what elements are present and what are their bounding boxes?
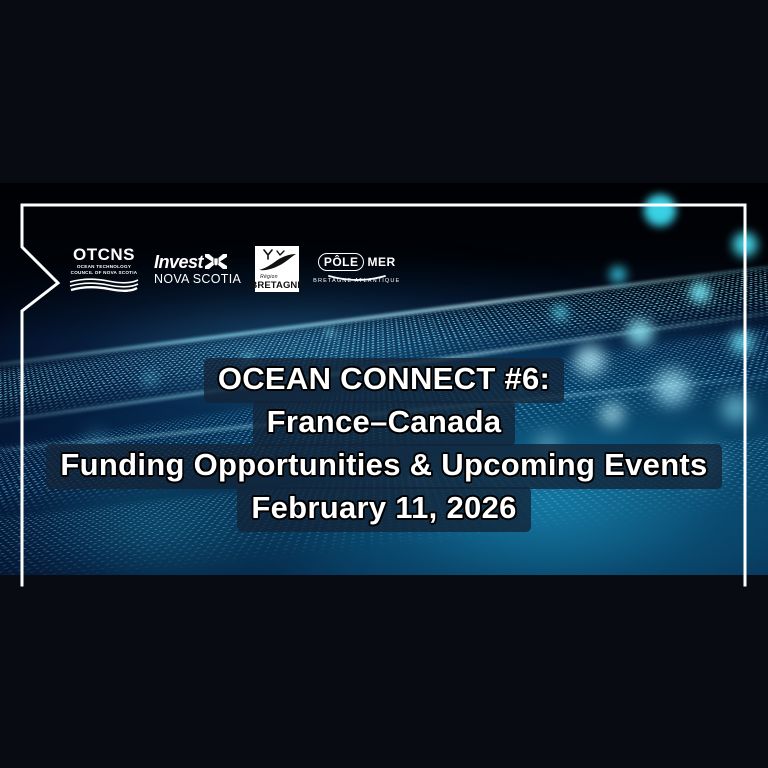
bretagne-ermine-icon: [255, 248, 299, 276]
page-root: OTCNS OCEAN TECHNOLOGY COUNCIL OF NOVA S…: [0, 0, 768, 768]
logo-invest-nova-scotia: Invest NOVA SCOTIA: [154, 253, 241, 286]
invest-subtitle: NOVA SCOTIA: [154, 273, 241, 286]
logo-otcns: OTCNS OCEAN TECHNOLOGY COUNCIL OF NOVA S…: [68, 246, 140, 291]
event-title-line-2: France–Canada: [253, 401, 516, 446]
bretagne-name-label: BRETAGNE: [250, 280, 303, 291]
nova-scotia-saltire-icon: [205, 253, 227, 270]
partner-logo-row: OTCNS OCEAN TECHNOLOGY COUNCIL OF NOVA S…: [68, 246, 400, 292]
otcns-wave-icon: [68, 278, 140, 292]
otcns-acronym: OTCNS: [68, 246, 140, 263]
otcns-line1: OCEAN TECHNOLOGY: [68, 265, 140, 270]
pole-mer-part1: PÔLE: [318, 253, 365, 272]
pole-mer-subtitle: BRETAGNE ATLANTIQUE: [313, 279, 400, 285]
pole-mer-part2: MER: [367, 256, 395, 268]
logo-pole-mer: PÔLE MER BRETAGNE ATLANTIQUE: [313, 253, 400, 285]
invest-wordmark: Invest: [154, 253, 203, 271]
pole-mer-arc-icon: [313, 270, 400, 276]
event-title-line-3: Funding Opportunities & Upcoming Events: [46, 444, 721, 489]
logo-region-bretagne: Région BRETAGNE: [255, 246, 299, 292]
event-title-line-1: OCEAN CONNECT #6:: [204, 358, 564, 403]
otcns-line2: COUNCIL OF NOVA SCOTIA: [68, 271, 140, 276]
event-date: February 11, 2026: [237, 487, 530, 532]
event-title-block: OCEAN CONNECT #6: France–Canada Funding …: [0, 358, 768, 532]
